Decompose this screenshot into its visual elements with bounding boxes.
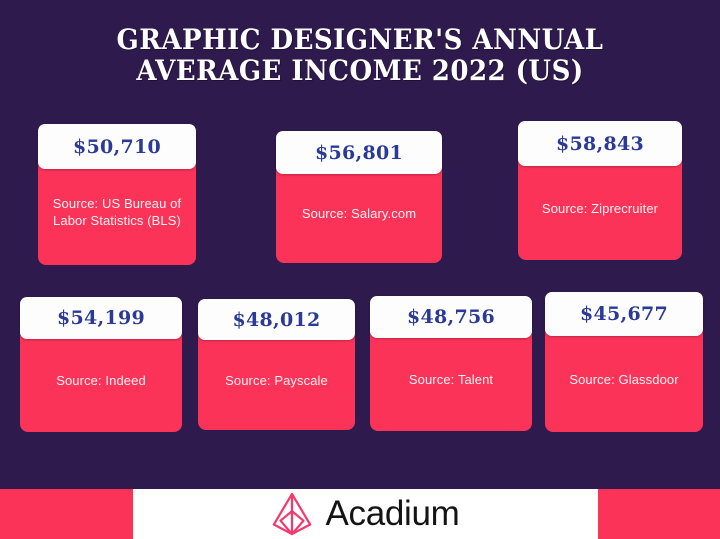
infographic-canvas: GRAPHIC DESIGNER'S ANNUAL AVERAGE INCOME… (0, 0, 720, 539)
footer-brand-panel: Acadium (133, 489, 598, 539)
income-card-indeed: $54,199 Source: Indeed (20, 297, 182, 432)
income-card-header: $58,843 (518, 121, 682, 166)
income-source-label: Source: US Bureau of Labor Statistics (B… (46, 195, 188, 229)
income-amount: $58,843 (556, 133, 644, 155)
income-card-header: $48,756 (370, 296, 532, 338)
income-source-label: Source: Glassdoor (569, 371, 678, 388)
income-card-ziprecruiter: $58,843 Source: Ziprecruiter (518, 121, 682, 260)
income-card-salarycom: $56,801 Source: Salary.com (276, 131, 442, 263)
income-card-header: $45,677 (545, 292, 703, 336)
income-amount: $45,677 (580, 303, 668, 325)
page-title-line-2: AVERAGE INCOME 2022 (US) (25, 55, 695, 86)
income-source-label: Source: Indeed (56, 372, 146, 389)
income-amount: $50,710 (73, 136, 161, 158)
income-card-header: $50,710 (38, 124, 196, 169)
income-source-label: Source: Salary.com (302, 205, 416, 222)
page-title-line-1: GRAPHIC DESIGNER'S ANNUAL (25, 24, 695, 55)
page-title: GRAPHIC DESIGNER'S ANNUAL AVERAGE INCOME… (0, 24, 720, 86)
income-source-label: Source: Payscale (225, 372, 328, 389)
income-source-label: Source: Ziprecruiter (542, 200, 658, 217)
brand-wordmark: Acadium (325, 496, 459, 533)
income-card-body: Source: Salary.com (276, 166, 442, 263)
income-card-body: Source: Talent (370, 330, 532, 431)
income-card-header: $54,199 (20, 297, 182, 339)
income-amount: $48,756 (407, 306, 495, 328)
income-card-payscale: $48,012 Source: Payscale (198, 299, 355, 430)
income-card-body: Source: Payscale (198, 332, 355, 430)
income-card-body: Source: Ziprecruiter (518, 158, 682, 260)
income-card-body: Source: Indeed (20, 331, 182, 432)
income-card-body: Source: US Bureau of Labor Statistics (B… (38, 161, 196, 265)
income-amount: $54,199 (57, 307, 145, 329)
income-amount: $56,801 (315, 142, 403, 164)
income-card-bls: $50,710 Source: US Bureau of Labor Stati… (38, 124, 196, 265)
income-card-header: $48,012 (198, 299, 355, 340)
income-source-label: Source: Talent (409, 371, 493, 388)
income-card-body: Source: Glassdoor (545, 328, 703, 432)
income-card-header: $56,801 (276, 131, 442, 174)
income-amount: $48,012 (232, 309, 320, 331)
income-card-talent: $48,756 Source: Talent (370, 296, 532, 431)
acadium-diamond-logo-icon (271, 492, 313, 536)
income-card-glassdoor: $45,677 Source: Glassdoor (545, 292, 703, 432)
